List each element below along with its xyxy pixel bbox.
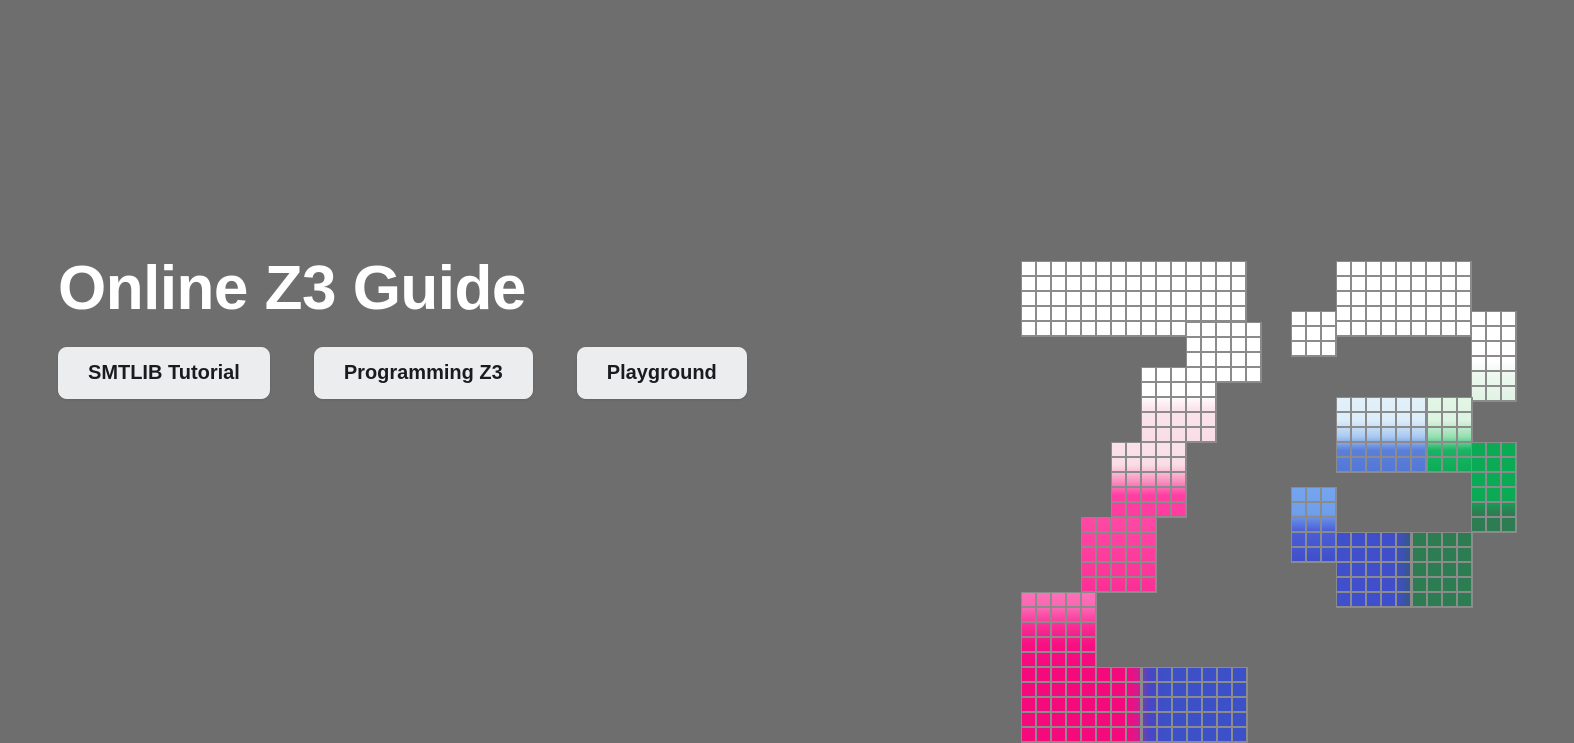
three-lower-right-column [1471,442,1517,533]
hero-section: Online Z3 Guide SMTLIB Tutorial Programm… [0,0,1574,742]
nav-buttons: SMTLIB Tutorial Programming Z3 Playgroun… [58,347,958,399]
three-middle-bar-green [1427,397,1473,473]
seven-step-3 [1111,442,1187,518]
three-bottom-bar-blue [1336,532,1412,608]
three-upper-right-column [1471,311,1517,402]
seven-step-2 [1141,367,1217,443]
three-middle-bar-blue [1336,397,1427,473]
seven-step-5 [1021,592,1097,668]
smtlib-tutorial-button[interactable]: SMTLIB Tutorial [58,347,270,399]
seven-bottom-bar-magenta [1021,667,1142,743]
seven-bottom-bar-blue [1142,667,1248,743]
three-lower-left-nub [1291,487,1337,563]
three-top-bar [1336,261,1472,337]
seven-step-4 [1081,517,1157,593]
programming-z3-button[interactable]: Programming Z3 [314,347,533,399]
three-upper-left-nub [1291,311,1337,357]
playground-button[interactable]: Playground [577,347,747,399]
page-title: Online Z3 Guide [58,258,958,320]
z3-pixel-logo [1021,261,1521,591]
hero-text-block: Online Z3 Guide SMTLIB Tutorial Programm… [58,258,958,399]
three-bottom-bar-green [1412,532,1473,608]
